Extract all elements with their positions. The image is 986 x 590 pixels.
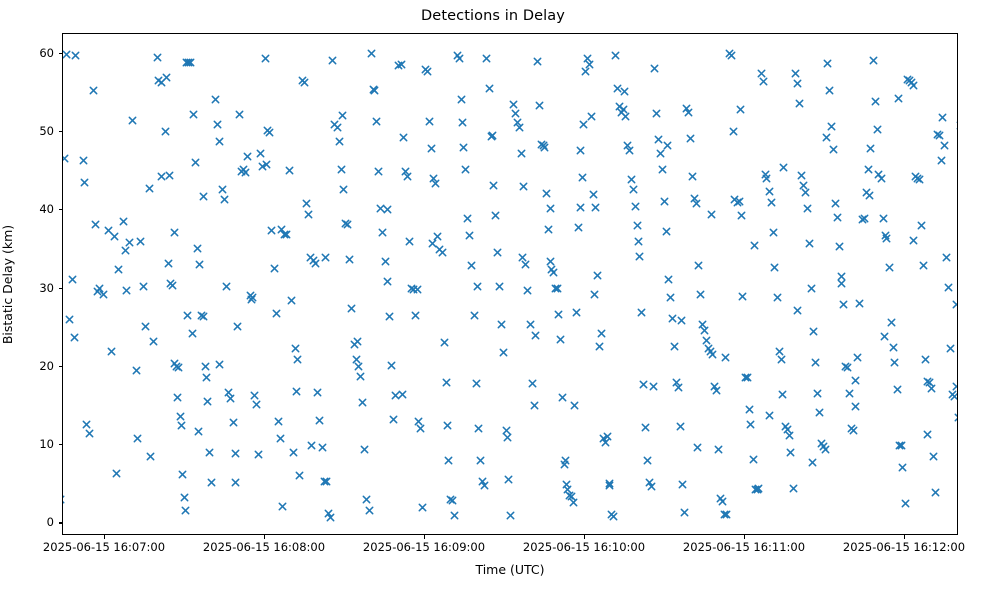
data-point: [330, 120, 339, 129]
data-point: [165, 171, 174, 180]
data-point: [727, 51, 736, 60]
data-point: [839, 300, 848, 309]
data-point: [70, 333, 79, 342]
data-point: [762, 174, 771, 183]
y-tick: [59, 366, 63, 367]
data-point: [246, 291, 255, 300]
y-tick: [59, 209, 63, 210]
data-point: [718, 497, 727, 506]
y-tick: [59, 444, 63, 445]
data-point: [714, 445, 723, 454]
data-point: [560, 460, 569, 469]
data-point: [597, 329, 606, 338]
data-point: [369, 85, 378, 94]
x-tick: [904, 535, 905, 539]
data-point: [811, 358, 820, 367]
data-point: [407, 284, 416, 293]
data-point: [841, 362, 850, 371]
data-point: [827, 122, 836, 131]
data-point: [833, 213, 842, 222]
data-point: [617, 108, 626, 117]
data-point: [149, 337, 158, 346]
data-point: [370, 86, 379, 95]
data-point: [613, 84, 622, 93]
data-point: [521, 260, 530, 269]
data-point: [425, 117, 434, 126]
data-point: [367, 49, 376, 58]
data-point: [702, 336, 711, 345]
data-point: [313, 388, 322, 397]
data-point: [453, 51, 462, 60]
data-point: [686, 134, 695, 143]
data-point: [295, 471, 304, 480]
data-point: [750, 241, 759, 250]
data-point: [879, 214, 888, 223]
x-tick-label: 2025-06-15 16:10:00: [523, 540, 645, 554]
data-point: [874, 170, 883, 179]
data-point: [389, 415, 398, 424]
data-point: [720, 510, 729, 519]
data-point: [952, 382, 958, 391]
data-point: [184, 58, 193, 67]
data-point: [374, 167, 383, 176]
data-point: [218, 185, 227, 194]
y-tick-label: 30: [0, 281, 54, 295]
data-point: [658, 165, 667, 174]
data-point: [704, 344, 713, 353]
data-point: [339, 185, 348, 194]
data-point: [350, 340, 359, 349]
data-point: [821, 445, 830, 454]
data-point: [590, 290, 599, 299]
data-point: [700, 326, 709, 335]
data-point: [663, 141, 672, 150]
data-point: [678, 480, 687, 489]
data-point: [318, 443, 327, 452]
data-point: [773, 293, 782, 302]
data-point: [631, 202, 640, 211]
data-point: [239, 165, 248, 174]
data-point: [372, 117, 381, 126]
data-point: [654, 135, 663, 144]
data-point: [463, 214, 472, 223]
data-point: [506, 511, 515, 520]
data-point: [93, 287, 102, 296]
data-point: [777, 355, 786, 364]
data-point: [793, 79, 802, 88]
data-point: [146, 452, 155, 461]
data-point: [873, 125, 882, 134]
data-point: [292, 387, 301, 396]
data-point: [153, 53, 162, 62]
data-point: [710, 382, 719, 391]
data-point: [128, 116, 137, 125]
data-point: [817, 439, 826, 448]
data-point: [353, 337, 362, 346]
data-point: [882, 234, 891, 243]
data-point: [173, 393, 182, 402]
data-point: [745, 405, 754, 414]
data-point: [262, 160, 271, 169]
data-point: [845, 389, 854, 398]
data-point: [444, 456, 453, 465]
y-tick-label: 0: [0, 515, 54, 529]
data-point: [293, 355, 302, 364]
data-point: [853, 353, 862, 362]
data-point: [793, 306, 802, 315]
data-point: [503, 433, 512, 442]
data-point: [309, 256, 318, 265]
data-point: [122, 286, 131, 295]
data-point: [956, 121, 958, 130]
data-point: [668, 314, 677, 323]
x-tick-label: 2025-06-15 16:07:00: [43, 540, 165, 554]
data-point: [761, 170, 770, 179]
data-point: [530, 401, 539, 410]
data-point: [809, 327, 818, 336]
data-point: [712, 386, 721, 395]
data-point: [693, 443, 702, 452]
data-point: [470, 311, 479, 320]
data-point: [795, 99, 804, 108]
data-point: [860, 214, 869, 223]
data-point: [121, 246, 130, 255]
data-point: [162, 73, 171, 82]
data-point: [603, 432, 612, 441]
data-point: [629, 185, 638, 194]
data-point: [178, 470, 187, 479]
data-point: [265, 128, 274, 137]
data-point: [595, 342, 604, 351]
data-point: [909, 236, 918, 245]
data-point: [770, 263, 779, 272]
data-point: [864, 165, 873, 174]
data-point: [919, 261, 928, 270]
data-point: [222, 282, 231, 291]
data-point: [823, 59, 832, 68]
data-point: [229, 418, 238, 427]
data-point: [923, 377, 932, 386]
data-point: [935, 131, 944, 140]
data-point: [621, 112, 630, 121]
data-point: [489, 181, 498, 190]
data-point: [280, 230, 289, 239]
data-point: [915, 175, 924, 184]
data-point: [267, 226, 276, 235]
data-point: [831, 199, 840, 208]
data-point: [625, 146, 634, 155]
data-point: [258, 162, 267, 171]
data-point: [448, 496, 457, 505]
data-point: [391, 391, 400, 400]
data-point: [561, 456, 570, 465]
data-point: [136, 237, 145, 246]
data-point: [170, 359, 179, 368]
data-point: [322, 477, 331, 486]
data-point: [270, 264, 279, 273]
data-point: [446, 495, 455, 504]
data-point: [544, 225, 553, 234]
data-point: [362, 495, 371, 504]
data-point: [698, 320, 707, 329]
data-point: [62, 154, 69, 163]
data-point: [125, 238, 134, 247]
data-point: [849, 426, 858, 435]
data-point: [733, 198, 742, 207]
data-point: [585, 60, 594, 69]
data-point: [278, 502, 287, 511]
data-point: [213, 120, 222, 129]
data-point: [620, 87, 629, 96]
data-point: [593, 271, 602, 280]
data-point: [822, 133, 831, 142]
data-point: [421, 65, 430, 74]
data-point: [411, 311, 420, 320]
data-point: [801, 188, 810, 197]
data-point: [194, 427, 203, 436]
data-point: [637, 308, 646, 317]
data-point: [205, 448, 214, 457]
y-tick: [59, 522, 63, 523]
y-tick-label: 40: [0, 202, 54, 216]
data-point: [381, 257, 390, 266]
data-point: [546, 257, 555, 266]
data-point: [104, 226, 113, 235]
data-point: [938, 113, 947, 122]
data-point: [905, 76, 914, 85]
data-point: [670, 342, 679, 351]
data-point: [248, 293, 257, 302]
data-point: [457, 95, 466, 104]
data-point: [781, 422, 790, 431]
data-point: [851, 376, 860, 385]
data-point: [682, 104, 691, 113]
data-point: [741, 373, 750, 382]
data-point: [672, 378, 681, 387]
data-point: [887, 318, 896, 327]
data-point: [623, 141, 632, 150]
data-point: [320, 477, 329, 486]
data-point: [690, 194, 699, 203]
data-point: [769, 228, 778, 237]
data-point: [813, 389, 822, 398]
data-point: [509, 100, 518, 109]
data-point: [649, 382, 658, 391]
data-point: [337, 165, 346, 174]
data-point: [641, 423, 650, 432]
x-tick-label: 2025-06-15 16:09:00: [363, 540, 485, 554]
data-point: [193, 244, 202, 253]
data-point: [164, 259, 173, 268]
data-point: [847, 424, 856, 433]
data-point: [558, 393, 567, 402]
data-point: [952, 300, 958, 309]
data-point: [576, 146, 585, 155]
data-point: [929, 452, 938, 461]
data-point: [504, 475, 513, 484]
data-point: [398, 390, 407, 399]
data-point: [321, 253, 330, 262]
data-point: [161, 127, 170, 136]
data-point: [409, 285, 418, 294]
data-point: [418, 503, 427, 512]
data-point: [737, 211, 746, 220]
data-point: [515, 123, 524, 132]
data-point: [276, 434, 285, 443]
data-point: [684, 108, 693, 117]
data-point: [519, 182, 528, 191]
data-point: [168, 281, 177, 290]
data-point: [383, 205, 392, 214]
data-point: [405, 237, 414, 246]
data-point: [567, 492, 576, 501]
data-point: [89, 86, 98, 95]
y-tick-label: 20: [0, 359, 54, 373]
data-point: [416, 424, 425, 433]
data-point: [526, 320, 535, 329]
data-point: [950, 392, 958, 401]
data-point: [132, 366, 141, 375]
data-point: [511, 109, 520, 118]
data-point: [533, 57, 542, 66]
data-point: [754, 484, 763, 493]
data-point: [535, 101, 544, 110]
data-point: [181, 506, 190, 515]
data-point: [455, 54, 464, 63]
data-point: [235, 110, 244, 119]
data-point: [783, 425, 792, 434]
data-point: [428, 239, 437, 248]
data-point: [226, 394, 235, 403]
data-point: [177, 421, 186, 430]
data-point: [304, 210, 313, 219]
data-point: [907, 78, 916, 87]
data-point: [837, 272, 846, 281]
data-point: [256, 149, 265, 158]
x-tick-label: 2025-06-15 16:08:00: [203, 540, 325, 554]
data-point: [851, 402, 860, 411]
data-point: [166, 279, 175, 288]
data-point: [611, 51, 620, 60]
data-point: [894, 94, 903, 103]
data-point: [619, 105, 628, 114]
data-point: [583, 54, 592, 63]
data-point: [306, 253, 315, 262]
data-point: [743, 373, 752, 382]
data-point: [925, 378, 934, 387]
data-point: [546, 204, 555, 213]
data-point: [243, 152, 252, 161]
data-point: [528, 379, 537, 388]
data-point: [574, 223, 583, 232]
data-point: [274, 417, 283, 426]
data-point: [82, 420, 91, 429]
data-point: [805, 239, 814, 248]
data-point: [383, 277, 392, 286]
data-point: [476, 456, 485, 465]
data-point: [485, 84, 494, 93]
data-point: [694, 261, 703, 270]
data-point: [261, 54, 270, 63]
data-point: [199, 192, 208, 201]
data-point: [751, 485, 760, 494]
data-point: [427, 144, 436, 153]
data-point: [220, 195, 229, 204]
data-point: [948, 390, 957, 399]
data-point: [753, 485, 762, 494]
data-point: [488, 131, 497, 140]
y-tick-label: 10: [0, 437, 54, 451]
data-point: [224, 388, 233, 397]
data-point: [680, 508, 689, 517]
data-point: [797, 171, 806, 180]
data-point: [807, 284, 816, 293]
data-point: [403, 172, 412, 181]
data-point: [250, 391, 259, 400]
data-point: [237, 167, 246, 176]
data-point: [803, 204, 812, 213]
data-point: [736, 105, 745, 114]
data-point: [898, 463, 907, 472]
data-point: [145, 184, 154, 193]
data-point: [141, 322, 150, 331]
y-tick: [59, 131, 63, 132]
data-point: [302, 199, 311, 208]
data-point: [880, 332, 889, 341]
data-point: [231, 449, 240, 458]
data-point: [68, 275, 77, 284]
data-point: [263, 126, 272, 135]
data-point: [199, 312, 208, 321]
data-point: [174, 363, 183, 372]
data-point: [855, 299, 864, 308]
data-point: [458, 118, 467, 127]
data-point: [307, 441, 316, 450]
data-point: [858, 215, 867, 224]
data-point: [157, 78, 166, 87]
data-point: [735, 197, 744, 206]
data-point: [358, 398, 367, 407]
data-point: [909, 81, 918, 90]
data-point: [913, 174, 922, 183]
data-point: [696, 290, 705, 299]
data-point: [791, 69, 800, 78]
data-point: [252, 400, 261, 409]
data-point: [215, 360, 224, 369]
data-point: [300, 78, 309, 87]
data-point: [587, 112, 596, 121]
data-point: [201, 362, 210, 371]
data-point: [749, 455, 758, 464]
data-point: [326, 513, 335, 522]
data-point: [311, 259, 320, 268]
data-point: [927, 384, 936, 393]
data-point: [722, 510, 731, 519]
data-point: [789, 484, 798, 493]
data-point: [921, 355, 930, 364]
data-point: [440, 338, 449, 347]
plot-area: [62, 33, 958, 535]
data-point: [759, 77, 768, 86]
data-point: [829, 145, 838, 154]
data-point: [211, 95, 220, 104]
data-point: [502, 426, 511, 435]
data-point: [465, 231, 474, 240]
y-tick-label: 50: [0, 124, 54, 138]
data-point: [601, 438, 610, 447]
y-tick: [59, 288, 63, 289]
data-point: [517, 149, 526, 158]
